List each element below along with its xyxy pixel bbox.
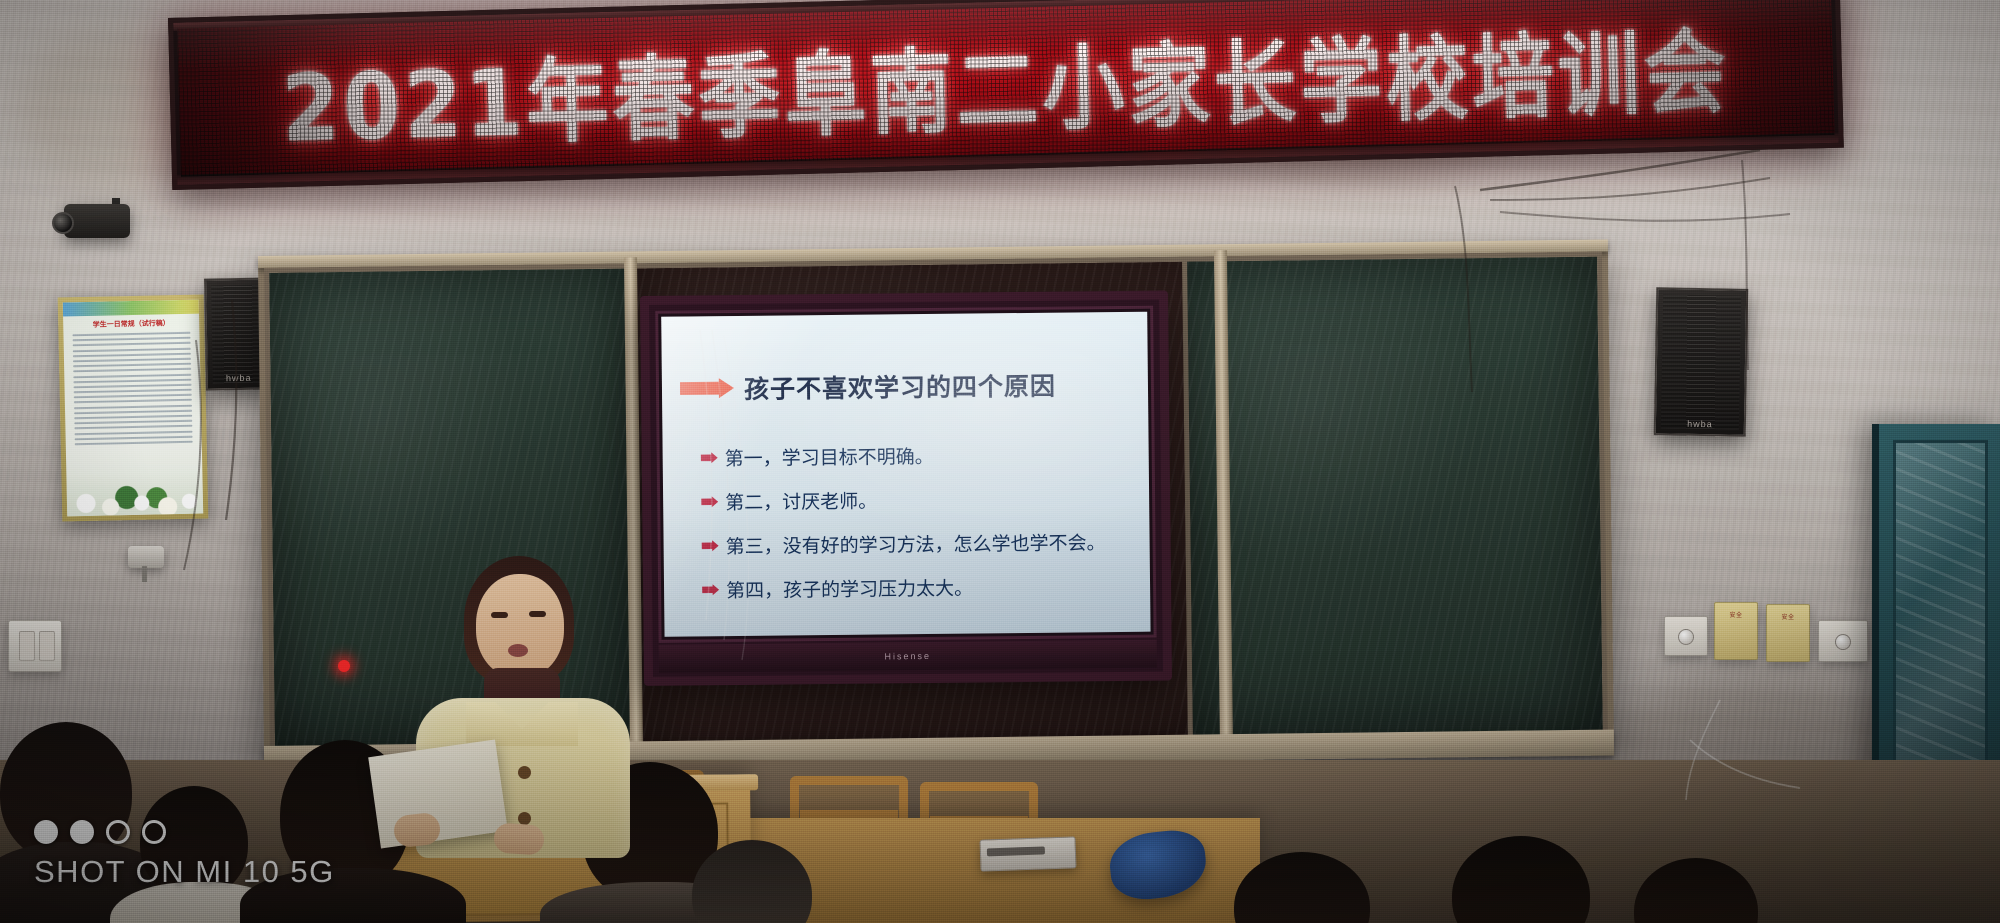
switch-knob-icon[interactable] [1678, 629, 1694, 645]
interactive-smartboard[interactable]: 孩子不喜欢学习的四个原因 第一，学习目标不明确。 第二，讨厌老师。 第三，没有好… [640, 290, 1172, 686]
chair-rung [800, 810, 898, 818]
presenter-eye [529, 611, 546, 617]
watermark-dot-filled [70, 820, 94, 844]
wall-box-label: 安全 [1715, 610, 1757, 619]
presenter-hand [493, 822, 545, 855]
led-display-face: 2021年春季阜南二小家长学校培训会 [177, 0, 1834, 177]
projector-mount [46, 198, 138, 250]
presenter [398, 556, 638, 856]
wall-control-amber-box[interactable]: 安全 [1766, 604, 1810, 662]
watermark-dots [34, 820, 335, 844]
audience-head [1452, 836, 1590, 923]
audience-member [1616, 858, 1786, 923]
wall-control-switch-plate[interactable] [1664, 616, 1708, 656]
light-switch-rocker[interactable] [39, 631, 55, 661]
slide-bullet-item: 第三，没有好的学习方法，怎么学也学不会。 [701, 528, 1143, 560]
right-speaker: hwba [1654, 287, 1749, 437]
audience-member [1430, 836, 1620, 923]
wall-box-label: 安全 [1767, 612, 1809, 621]
light-switch-rocker[interactable] [19, 631, 35, 661]
wall-camera [118, 542, 172, 582]
slide-bullet-text: 第二，讨厌老师。 [725, 487, 877, 516]
smartboard-chin: Hisense [659, 640, 1157, 673]
smartboard-brand-label: Hisense [884, 651, 931, 661]
presenter-jacket-button [518, 766, 531, 779]
blackboard-panel-right [1182, 252, 1608, 743]
audience-head [1634, 858, 1758, 923]
slide-title: 孩子不喜欢学习的四个原因 [744, 367, 1056, 406]
audience-head [1234, 852, 1370, 923]
photo-canvas: 2021年春季阜南二小家长学校培训会 学生一日常规（试行稿） hwba hwba [0, 0, 2000, 923]
slide-bullet-text: 第一，学习目标不明确。 [725, 442, 934, 471]
camera-pole [142, 566, 147, 582]
poster-color-bar [63, 300, 199, 317]
speaker-logo: hwba [1656, 418, 1744, 430]
watermark-dot-filled [34, 820, 58, 844]
presenter-eye [491, 612, 508, 618]
audience-member [1210, 852, 1400, 923]
presenter-face [476, 574, 564, 678]
wall-control-amber-box[interactable]: 安全 [1714, 602, 1758, 660]
status-led-indicator [338, 660, 350, 672]
poster-floral-decoration [66, 472, 203, 517]
arrow-right-icon [680, 378, 734, 399]
poster-title: 学生一日常规（试行稿） [71, 318, 191, 331]
wall-poster: 学生一日常规（试行稿） [58, 294, 209, 521]
bullet-arrow-icon [702, 584, 719, 595]
watermark-dot-outline [142, 820, 166, 844]
camera-watermark: SHOT ON MI 10 5G [34, 820, 335, 890]
slide-bullet-item: 第二，讨厌老师。 [701, 484, 1143, 516]
watermark-dot-outline [106, 820, 130, 844]
slide-bullet-text: 第三，没有好的学习方法，怎么学也学不会。 [725, 528, 1105, 559]
wall-control-dimmer-plate[interactable] [1818, 620, 1868, 662]
slide-title-row: 孩子不喜欢学习的四个原因 [680, 366, 1140, 407]
presentation-slide: 孩子不喜欢学习的四个原因 第一，学习目标不明确。 第二，讨厌老师。 第三，没有好… [661, 312, 1150, 637]
bullet-arrow-icon [701, 496, 718, 507]
dimmer-knob-icon[interactable] [1835, 634, 1851, 650]
presenter-mouth [508, 644, 528, 657]
remote-control-box[interactable] [979, 836, 1076, 871]
projector-lens-icon [52, 212, 74, 234]
smartboard-bezel: 孩子不喜欢学习的四个原因 第一，学习目标不明确。 第二，讨厌老师。 第三，没有好… [655, 306, 1156, 643]
speaker-grill-icon [211, 285, 265, 384]
slide-bullet-item: 第一，学习目标不明确。 [701, 440, 1143, 472]
speaker-grill-icon [1661, 294, 1741, 429]
poster-sheet: 学生一日常规（试行稿） [63, 300, 203, 517]
poster-body-text [72, 332, 193, 472]
watermark-text: SHOT ON MI 10 5G [34, 854, 335, 890]
audience-member [672, 840, 842, 923]
audience-head [692, 840, 812, 923]
bullet-arrow-icon [702, 540, 719, 551]
slide-bullet-text: 第四，孩子的学习压力太大。 [726, 574, 973, 604]
bullet-arrow-icon [701, 452, 718, 463]
camera-body-icon [128, 546, 164, 568]
slide-bullet-list: 第一，学习目标不明确。 第二，讨厌老师。 第三，没有好的学习方法，怎么学也学不会… [701, 440, 1145, 604]
light-switch-plate[interactable] [8, 620, 62, 672]
slide-bullet-item: 第四，孩子的学习压力太大。 [702, 572, 1144, 604]
